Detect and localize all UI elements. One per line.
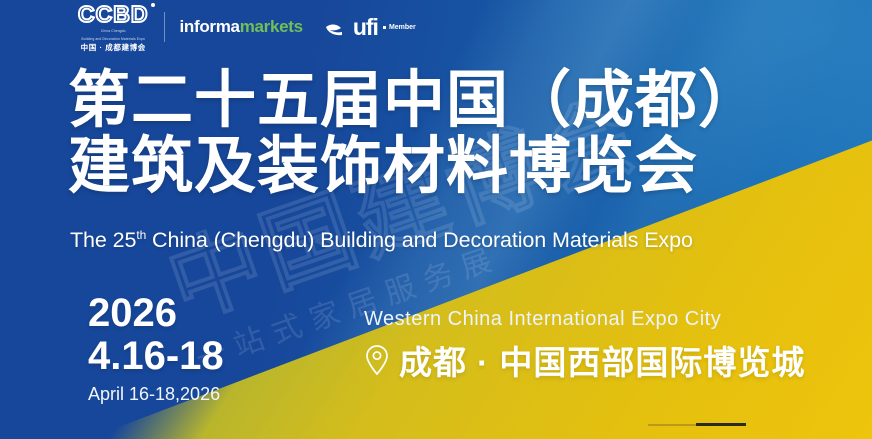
ccbd-english-line2: Building and Decoration Materials Expo [82,37,145,42]
ufi-member-logo: ufi Member [325,17,416,38]
informa-word: informa [179,17,239,36]
headline-subtitle: The 25th China (Chengdu) Building and De… [70,228,693,253]
event-date-english: April 16-18,2026 [88,384,224,405]
ufi-wordmark: ufi [353,17,378,38]
ccbd-wordmark-text: CCBD [78,1,148,27]
ccbd-chinese-name: 中国 · 成都建博会 [81,44,146,52]
subtitle-prefix: The 25 [70,228,136,252]
headline: 第二十五届中国（成都） 建筑及装饰材料博览会 [68,68,761,199]
rule-segment-dark [696,423,746,426]
ccbd-logo: CCBD China Chengdu Building and Decorati… [78,3,148,51]
event-day-range: 4.16-18 [88,335,224,378]
expo-banner: 中国建博会 一站式家居服务展 CCBD China Chengdu Buildi… [0,0,872,439]
ccbd-wordmark: CCBD [78,3,148,26]
event-year: 2026 [88,292,224,335]
informa-markets-logo: informamarkets [179,17,302,37]
ufi-bullet-icon [383,26,386,29]
venue-chinese-row: 成都 · 中国西部国际博览城 [364,336,805,384]
logo-divider [164,12,165,42]
rule-segment-light [648,424,696,426]
event-venue-block: Western China International Expo City 成都… [364,308,805,384]
ufi-swoosh-icon [325,21,351,37]
markets-word: markets [240,17,303,36]
ufi-member-label: Member [383,24,416,31]
headline-line-1: 第二十五届中国（成都） [68,68,761,134]
ufi-mark: ufi [325,17,378,38]
venue-english: Western China International Expo City [364,308,805,331]
headline-line-2: 建筑及装饰材料博览会 [68,134,761,200]
ccbd-dot-icon [151,3,155,7]
location-pin-icon [364,344,390,376]
event-date-block: 2026 4.16-18 April 16-18,2026 [88,292,224,405]
ccbd-english-line1: China Chengdu [101,29,126,34]
ufi-member-text: Member [389,24,416,31]
venue-chinese: 成都 · 中国西部国际博览城 [399,336,805,384]
subtitle-suffix: China (Chengdu) Building and Decoration … [146,228,693,252]
bottom-decorative-rule [648,423,746,426]
subtitle-ordinal: th [136,228,146,242]
logo-bar: CCBD China Chengdu Building and Decorati… [78,6,416,48]
